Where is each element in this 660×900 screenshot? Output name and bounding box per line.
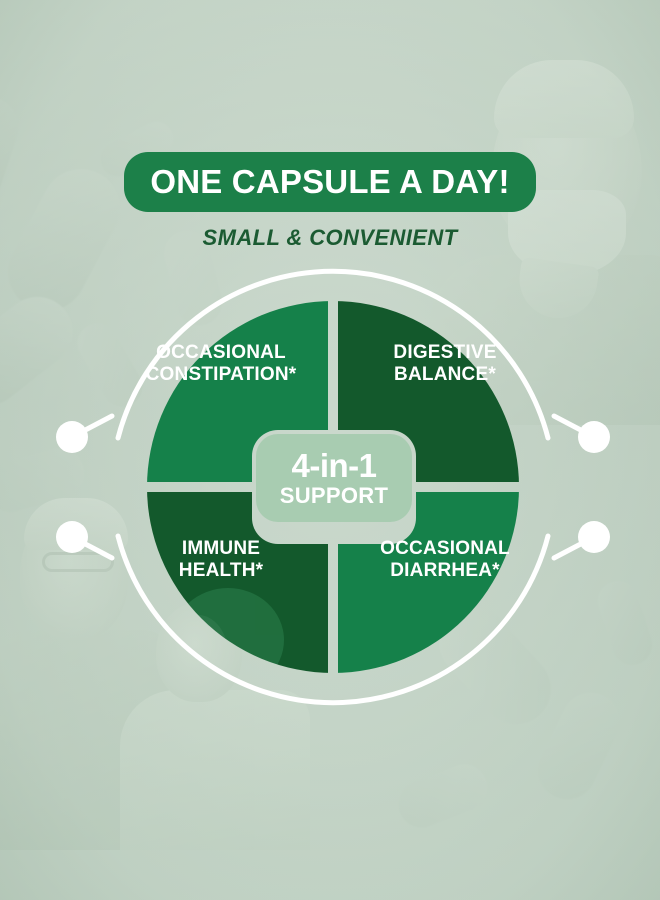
badge-main-text: 4-in-1 <box>291 449 376 482</box>
header: ONE CAPSULE A DAY! SMALL & CONVENIENT <box>0 152 660 251</box>
subheadline: SMALL & CONVENIENT <box>0 225 660 251</box>
badge-sub-text: SUPPORT <box>280 485 388 507</box>
headline-pill: ONE CAPSULE A DAY! <box>124 152 535 212</box>
connector-dot-bottom-left[interactable] <box>56 521 88 553</box>
center-badge: 4-in-1 SUPPORT <box>256 434 412 522</box>
infographic-poster: ONE CAPSULE A DAY! SMALL & CONVENIENT <box>0 0 660 900</box>
connector-dot-top-right[interactable] <box>578 421 610 453</box>
connector-dot-bottom-right[interactable] <box>578 521 610 553</box>
connector-dot-top-left[interactable] <box>56 421 88 453</box>
